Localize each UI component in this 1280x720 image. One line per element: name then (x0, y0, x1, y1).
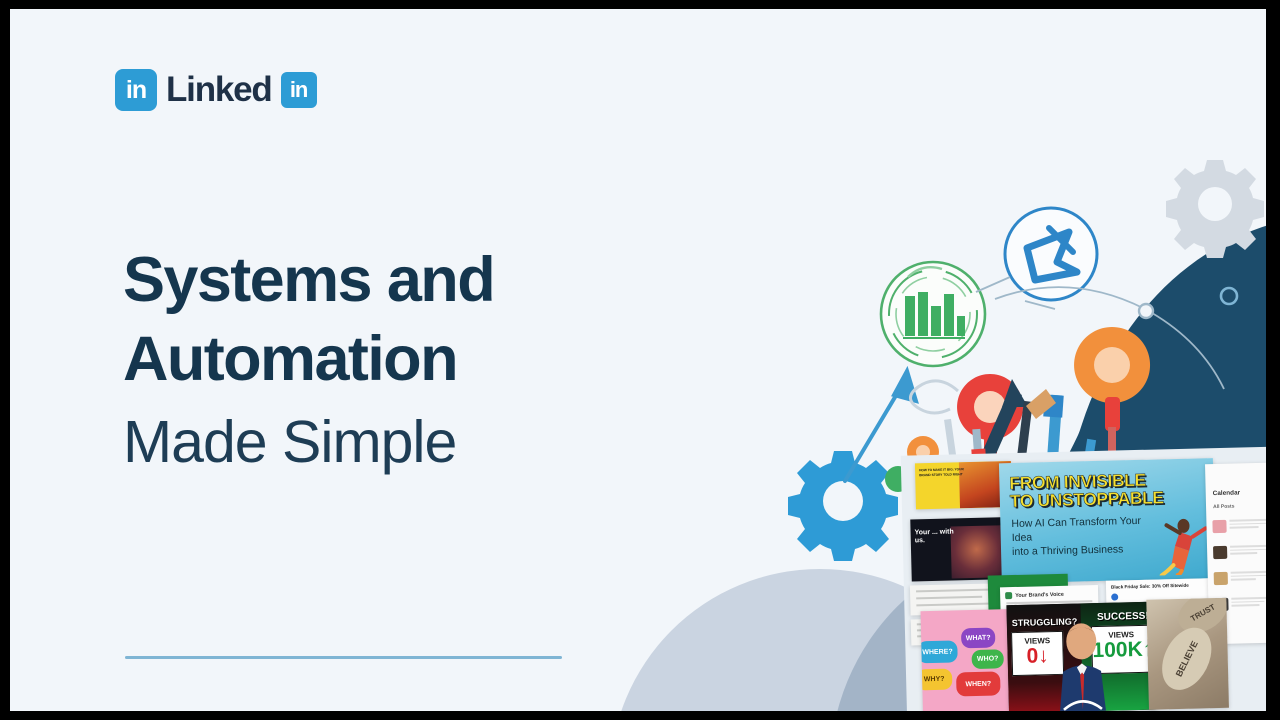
calendar-item (1214, 571, 1272, 595)
gear-blue-large-icon (788, 451, 898, 561)
bubble-why: WHY? (921, 669, 953, 691)
brand-badge-icon (1005, 592, 1012, 599)
gear-grey-large-icon (1166, 160, 1264, 258)
compass-badge-icon (1005, 208, 1097, 300)
title-divider (125, 656, 562, 659)
bubble-what: WHAT? (961, 627, 995, 648)
calendar-item (1213, 545, 1272, 569)
stones-thumbnail: TRUST BELIEVE (1146, 598, 1229, 710)
hero-thumbnail: FROM INVISIBLE TO UNSTOPPABLE How AI Can… (999, 458, 1216, 583)
rocket-person-illustration (1152, 512, 1209, 575)
bubble-where: WHERE? (921, 640, 958, 663)
post-author-avatar (1111, 593, 1118, 600)
yellow-thumbnail-text: HOW TO MAKE IT BIG: YOUR BRAND STORY TOL… (919, 467, 967, 477)
dark-thumbnail-text: Your ... with us. (915, 528, 955, 546)
linkedin-badge-icon: in (115, 69, 157, 111)
compare-thumbnail: STRUGGLING? SUCCESS! VIEWS 0↓ VIEWS 100K… (1006, 602, 1157, 711)
hero-subtitle-line-1: How AI Can Transform Your Idea (1011, 513, 1162, 545)
calendar-item-thumbnail (1214, 572, 1228, 585)
connector-node (1139, 304, 1153, 318)
text-line (916, 596, 982, 600)
title-line-2: Automation (123, 320, 743, 399)
slide: in Linked in Systems and Automation Made… (10, 9, 1272, 711)
post-card-heading: Black Friday Sale: 30% Off Sitewide (1111, 583, 1189, 590)
calendar-subheading: All Posts (1213, 504, 1235, 511)
stone-plain (1192, 672, 1229, 703)
calendar-heading: Calendar (1213, 489, 1241, 497)
title-line-1: Systems and (123, 241, 743, 320)
hero-subtitle: How AI Can Transform Your Idea into a Th… (1011, 513, 1162, 559)
linkedin-logo[interactable]: in Linked in (115, 69, 317, 111)
calendar-item-thumbnail (1212, 520, 1226, 533)
bubble-who: WHO? (971, 649, 1003, 669)
arrow-down-icon: ↓ (1038, 644, 1049, 667)
linkedin-wordmark: Linked (166, 70, 272, 110)
bar-chart-badge-icon (881, 262, 985, 366)
linkedin-badge-secondary-icon: in (281, 72, 317, 108)
frame-edge (1266, 9, 1272, 711)
hero-subtitle-line-2: into a Thriving Business (1012, 542, 1162, 560)
sketch-squiggle (910, 381, 958, 413)
title-line-3: Made Simple (123, 404, 743, 481)
bubble-when: WHEN? (956, 671, 1001, 696)
calendar-item-thumbnail (1213, 546, 1227, 559)
question-bubbles-thumbnail: WHERE? WHAT? WHO? WHY? WHEN? (921, 609, 1016, 711)
metric-number: 0 (1026, 644, 1038, 667)
collage-group: HOW TO MAKE IT BIG: YOUR BRAND STORY TOL… (907, 452, 1272, 711)
presenter-portrait (1052, 619, 1112, 711)
page-title: Systems and Automation Made Simple (123, 241, 743, 480)
hero-title-line-2: TO UNSTOPPABLE (1010, 489, 1164, 510)
yellow-thumbnail: HOW TO MAKE IT BIG: YOUR BRAND STORY TOL… (915, 461, 1012, 509)
calendar-item (1212, 519, 1272, 543)
brand-voice-heading: Your Brand's Voice (1015, 592, 1064, 599)
